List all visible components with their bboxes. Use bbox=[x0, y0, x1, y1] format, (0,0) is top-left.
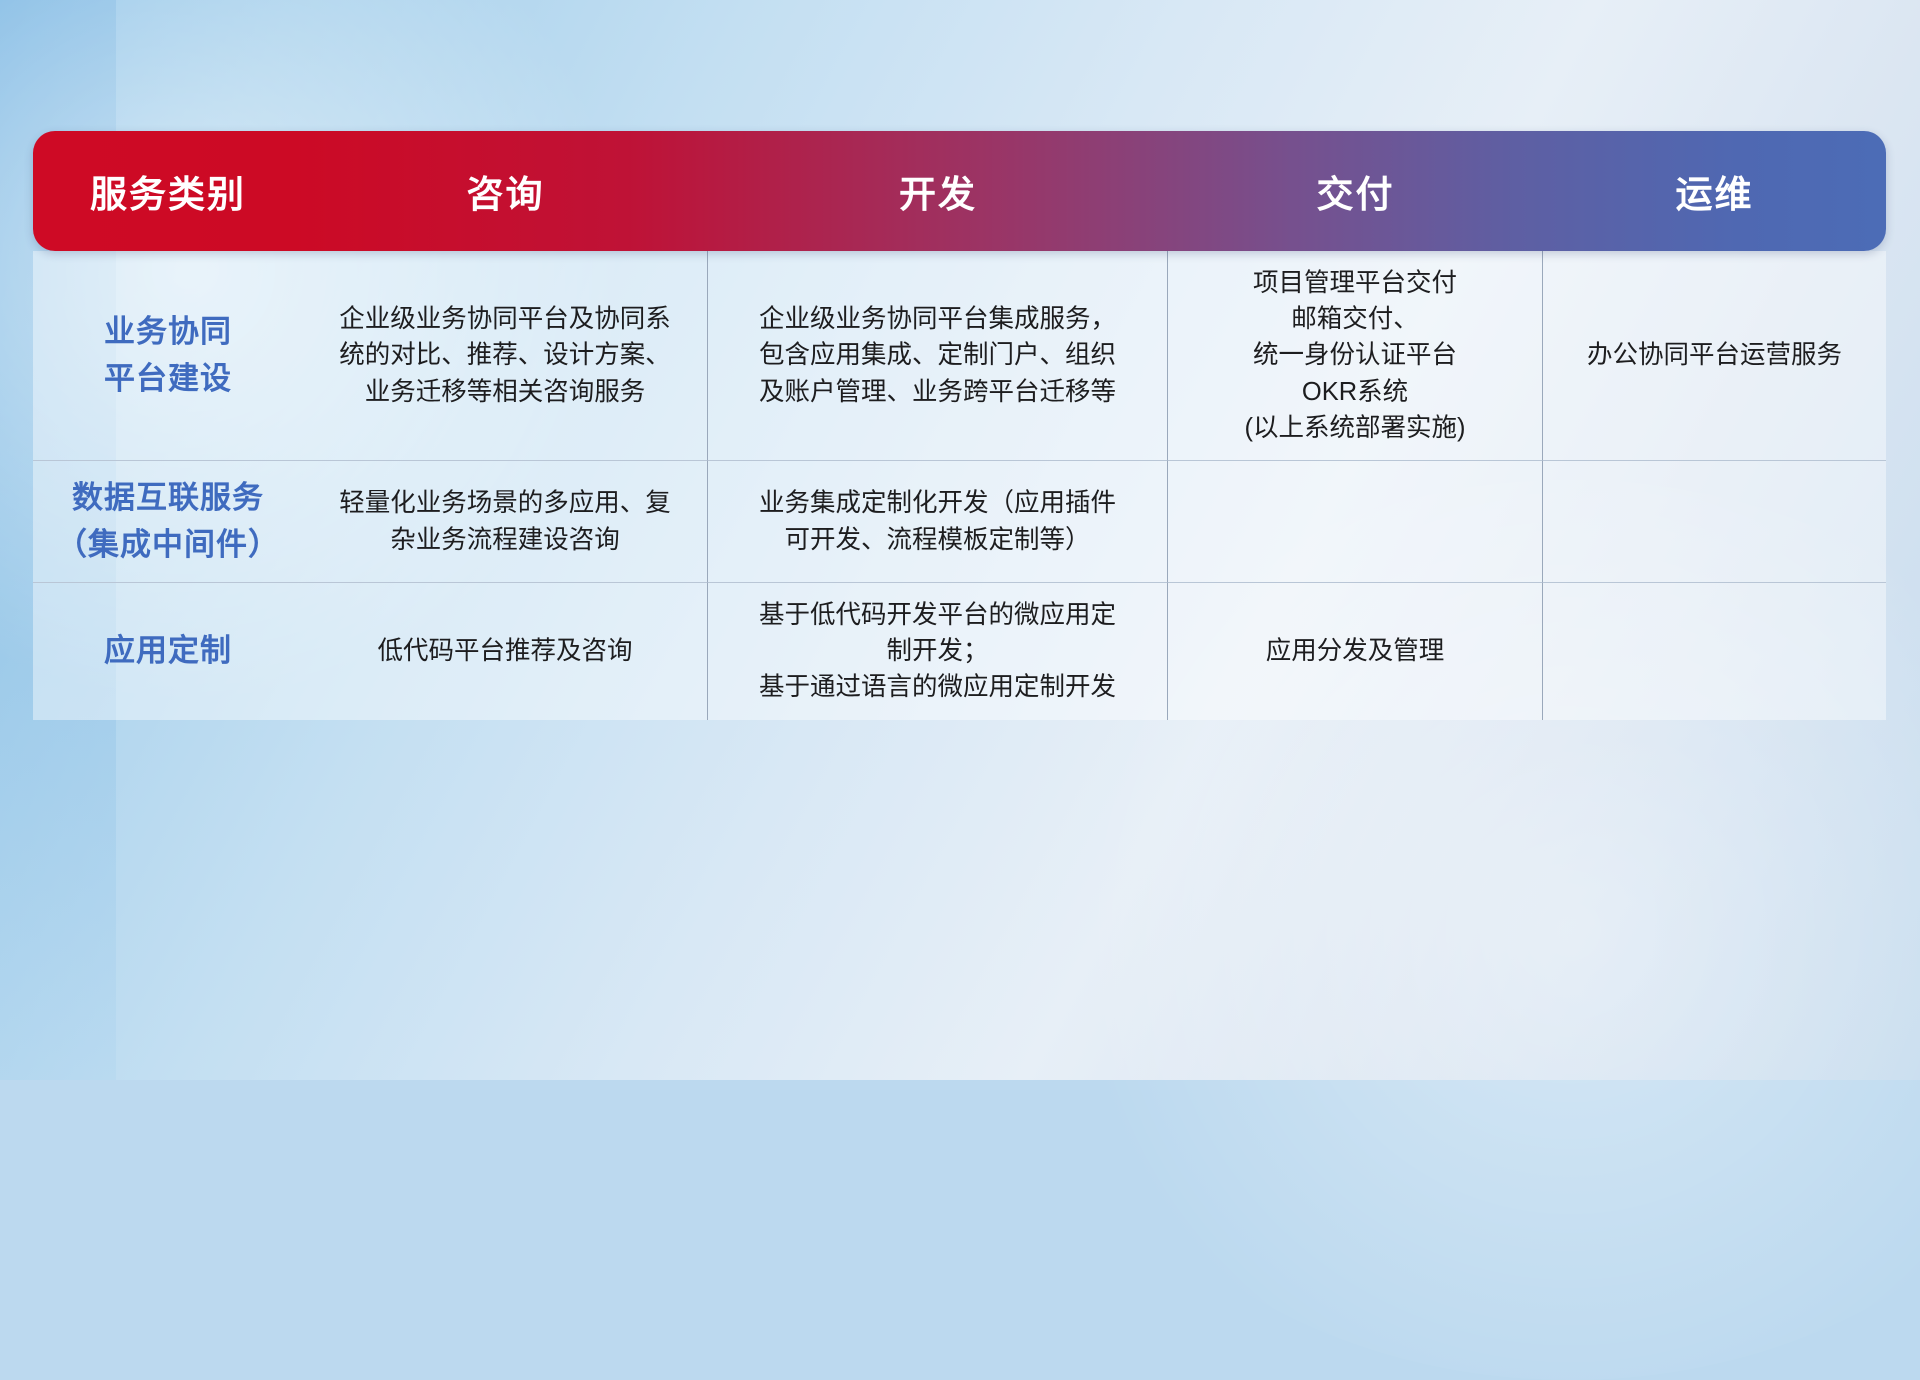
column-header-consulting: 咨询 bbox=[303, 131, 708, 251]
cell-line: （集成中间件） bbox=[51, 522, 285, 569]
cell-consulting: 企业级业务协同平台及协同系统的对比、推荐、设计方案、业务迁移等相关咨询服务 bbox=[303, 251, 708, 461]
cell-line: 杂业务流程建设咨询 bbox=[321, 522, 689, 558]
column-header-delivery: 交付 bbox=[1168, 131, 1543, 251]
cell-line: 企业级业务协同平台集成服务， bbox=[726, 301, 1149, 337]
column-header-operations: 运维 bbox=[1543, 131, 1886, 251]
cell-line: 包含应用集成、定制门户、组织 bbox=[726, 337, 1149, 373]
cell-consulting: 轻量化业务场景的多应用、复杂业务流程建设咨询 bbox=[303, 461, 708, 583]
table-row: 应用定制低代码平台推荐及咨询基于低代码开发平台的微应用定制开发；基于通过语言的微… bbox=[33, 583, 1886, 720]
cell-delivery: 项目管理平台交付邮箱交付、统一身份认证平台OKR系统(以上系统部署实施) bbox=[1168, 251, 1543, 461]
cell-development: 基于低代码开发平台的微应用定制开发；基于通过语言的微应用定制开发 bbox=[708, 583, 1168, 720]
cell-line: (以上系统部署实施) bbox=[1186, 410, 1524, 446]
cell-line: 办公协同平台运营服务 bbox=[1561, 337, 1868, 373]
cell-service-category: 应用定制 bbox=[33, 583, 303, 720]
cell-service-category: 业务协同平台建设 bbox=[33, 251, 303, 461]
cell-line: 基于通过语言的微应用定制开发 bbox=[726, 669, 1149, 705]
column-header-development: 开发 bbox=[708, 131, 1168, 251]
column-header-service-category: 服务类别 bbox=[33, 131, 303, 251]
cell-line: 邮箱交付、 bbox=[1186, 301, 1524, 337]
cell-line: 应用分发及管理 bbox=[1186, 633, 1524, 669]
cell-operations bbox=[1543, 461, 1886, 583]
cell-line: 统的对比、推荐、设计方案、 bbox=[321, 337, 689, 373]
cell-delivery: 应用分发及管理 bbox=[1168, 583, 1543, 720]
table-row: 业务协同平台建设企业级业务协同平台及协同系统的对比、推荐、设计方案、业务迁移等相… bbox=[33, 251, 1886, 461]
cell-line: 业务集成定制化开发（应用插件 bbox=[726, 485, 1149, 521]
cell-line: 业务协同 bbox=[51, 309, 285, 356]
cell-line: 轻量化业务场景的多应用、复 bbox=[321, 485, 689, 521]
cell-line: 可开发、流程模板定制等） bbox=[726, 522, 1149, 558]
cell-line: 基于低代码开发平台的微应用定 bbox=[726, 597, 1149, 633]
cell-development: 业务集成定制化开发（应用插件可开发、流程模板定制等） bbox=[708, 461, 1168, 583]
cell-line: 低代码平台推荐及咨询 bbox=[321, 633, 689, 669]
cell-line: 及账户管理、业务跨平台迁移等 bbox=[726, 374, 1149, 410]
service-matrix-table: 服务类别 咨询 开发 交付 运维 业务协同平台建设企业级业务协同平台及协同系统的… bbox=[33, 131, 1886, 947]
cell-consulting: 低代码平台推荐及咨询 bbox=[303, 583, 708, 720]
cell-line: 业务迁移等相关咨询服务 bbox=[321, 374, 689, 410]
header-row: 服务类别 咨询 开发 交付 运维 bbox=[33, 131, 1886, 251]
cell-line: 统一身份认证平台 bbox=[1186, 337, 1524, 373]
service-table: 服务类别 咨询 开发 交付 运维 业务协同平台建设企业级业务协同平台及协同系统的… bbox=[33, 131, 1886, 720]
cell-line: 应用定制 bbox=[51, 628, 285, 675]
cell-line: 数据互联服务 bbox=[51, 475, 285, 522]
cell-development: 企业级业务协同平台集成服务，包含应用集成、定制门户、组织及账户管理、业务跨平台迁… bbox=[708, 251, 1168, 461]
table-row: 数据互联服务（集成中间件）轻量化业务场景的多应用、复杂业务流程建设咨询业务集成定… bbox=[33, 461, 1886, 583]
cell-operations: 办公协同平台运营服务 bbox=[1543, 251, 1886, 461]
cell-delivery bbox=[1168, 461, 1543, 583]
cell-service-category: 数据互联服务（集成中间件） bbox=[33, 461, 303, 583]
cell-line: 企业级业务协同平台及协同系 bbox=[321, 301, 689, 337]
cell-line: 平台建设 bbox=[51, 356, 285, 403]
table-body: 业务协同平台建设企业级业务协同平台及协同系统的对比、推荐、设计方案、业务迁移等相… bbox=[33, 251, 1886, 720]
cell-line: 制开发； bbox=[726, 633, 1149, 669]
cell-operations bbox=[1543, 583, 1886, 720]
table-header: 服务类别 咨询 开发 交付 运维 bbox=[33, 131, 1886, 251]
cell-line: 项目管理平台交付 bbox=[1186, 265, 1524, 301]
cell-line: OKR系统 bbox=[1186, 374, 1524, 410]
